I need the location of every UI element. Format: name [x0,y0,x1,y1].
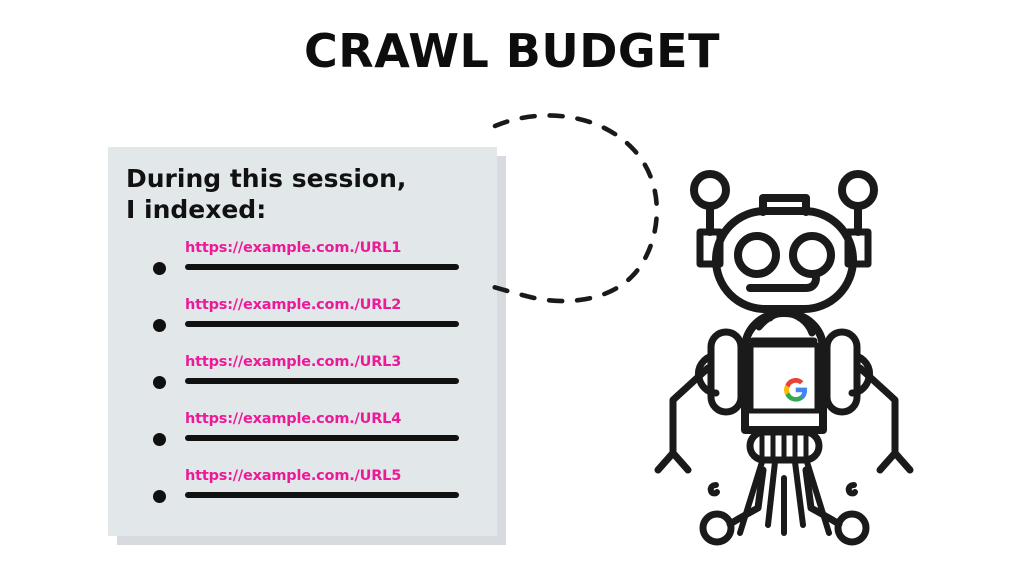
list-item[interactable]: https://example.com./URL3 [108,354,497,411]
card-heading: During this session, I indexed: [126,163,406,225]
google-g-logo [784,378,807,402]
exhaust-plume [740,462,829,533]
shoulder-right [827,332,857,412]
url-label[interactable]: https://example.com./URL5 [185,468,401,484]
indexed-urls-card: During this session, I indexed: https://… [108,147,497,536]
indexed-url-list: https://example.com./URL1 https://exampl… [108,240,497,525]
thruster-housing [750,432,819,460]
robot-torso [745,313,823,430]
arm-left [658,368,708,470]
bullet-icon [153,376,166,389]
page-title: CRAWL BUDGET [0,28,1024,74]
shoulder-left [711,332,741,412]
google-crawler-robot [658,174,910,542]
antenna-right-icon [842,174,874,264]
spark-left-icon [711,485,717,493]
spark-right-icon [849,485,855,493]
bullet-icon [153,490,166,503]
list-item[interactable]: https://example.com./URL2 [108,297,497,354]
url-underline-bar [185,435,459,441]
thruster-vents [762,436,806,456]
list-item[interactable]: https://example.com./URL5 [108,468,497,525]
eye-left-icon [738,236,776,274]
url-label[interactable]: https://example.com./URL3 [185,354,401,370]
landing-gear-right [806,470,866,542]
url-label[interactable]: https://example.com./URL1 [185,240,401,256]
antenna-left-icon [694,174,726,264]
landing-gear-left [703,470,763,542]
url-underline-bar [185,321,459,327]
url-label[interactable]: https://example.com./URL4 [185,411,401,427]
dashed-crawl-path [486,115,657,301]
url-underline-bar [185,492,459,498]
bullet-icon [153,319,166,332]
list-item[interactable]: https://example.com./URL1 [108,240,497,297]
smile-icon [750,278,816,288]
bullet-icon [153,262,166,275]
bullet-icon [153,433,166,446]
list-item[interactable]: https://example.com./URL4 [108,411,497,468]
url-underline-bar [185,378,459,384]
chest-screen [751,345,817,411]
eye-right-icon [793,236,831,274]
url-underline-bar [185,264,459,270]
arm-right [860,368,910,470]
url-label[interactable]: https://example.com./URL2 [185,297,401,313]
